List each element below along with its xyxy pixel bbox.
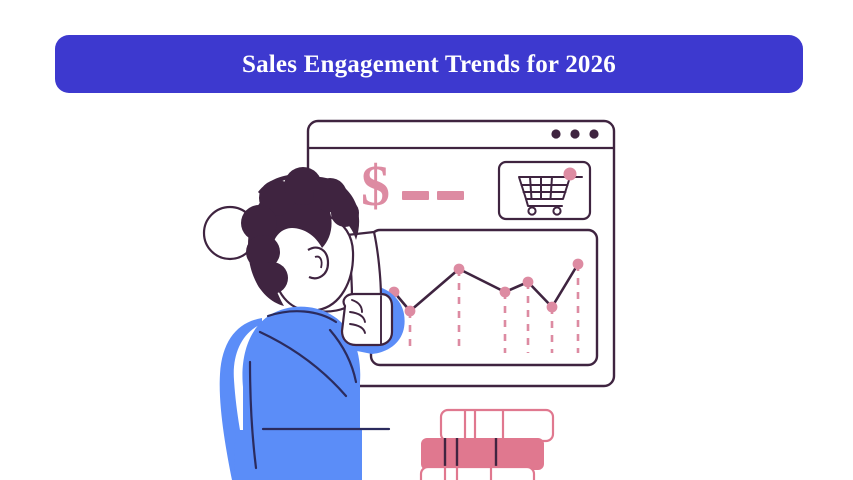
cart-button-frame[interactable] (499, 162, 590, 219)
data-point-4[interactable] (500, 287, 511, 298)
book-middle (421, 438, 544, 470)
cart-button[interactable] (499, 162, 590, 219)
amount-dash-2 (437, 191, 464, 200)
title-banner: Sales Engagement Trends for 2026 (55, 35, 803, 93)
data-point-6[interactable] (547, 302, 558, 313)
person-ear (308, 248, 328, 279)
data-point-5[interactable] (523, 277, 534, 288)
amount-dash-1 (402, 191, 429, 200)
window-dot-3[interactable] (589, 129, 598, 138)
person-hair-lobe-7 (331, 199, 359, 227)
book-bottom (421, 467, 534, 480)
person-fist (342, 294, 392, 345)
person-hand (342, 294, 392, 345)
chart-panel-frame (371, 230, 597, 365)
dollar-sign-icon: $ (361, 153, 390, 218)
hero-illustration: $ (0, 100, 853, 480)
data-point-2[interactable] (405, 306, 416, 317)
window-dots[interactable] (551, 129, 598, 138)
cart-badge-dot (564, 168, 577, 181)
page-title: Sales Engagement Trends for 2026 (242, 52, 616, 77)
page-canvas: Sales Engagement Trends for 2026 $ (0, 0, 853, 480)
window-dot-2[interactable] (570, 129, 579, 138)
book-stack (421, 410, 553, 480)
window-dot-1[interactable] (551, 129, 560, 138)
data-point-7[interactable] (573, 259, 584, 270)
data-point-3[interactable] (454, 264, 465, 275)
book-top (441, 410, 553, 441)
person-hair-lobe-6 (256, 262, 288, 294)
chart-panel (371, 230, 597, 365)
